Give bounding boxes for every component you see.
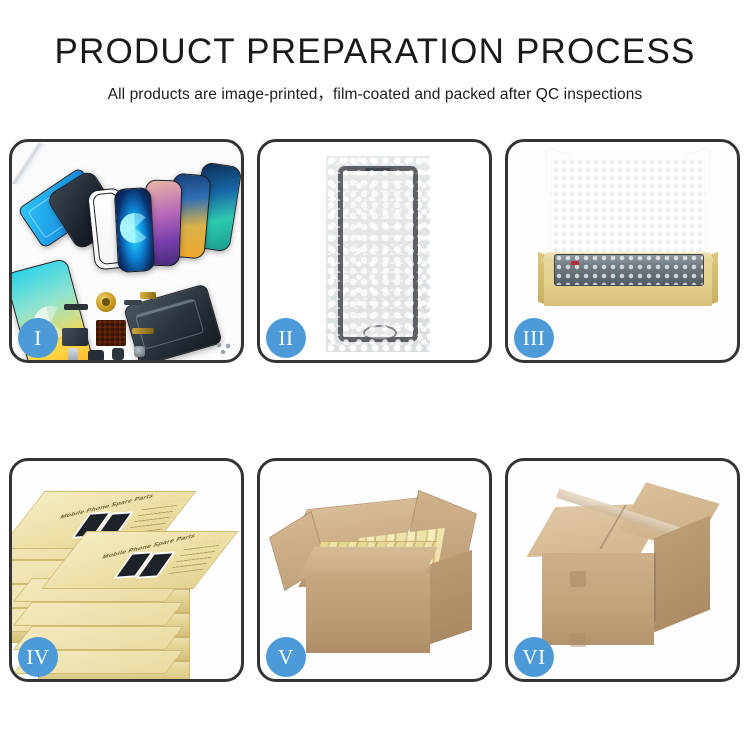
step-1-products: I bbox=[9, 139, 244, 363]
teal-wallpaper-screen bbox=[114, 187, 155, 273]
box-spec-lines bbox=[168, 540, 222, 574]
step-badge: III bbox=[514, 318, 554, 358]
red-label-mark bbox=[571, 261, 579, 265]
stacked-box bbox=[38, 661, 190, 679]
carton-front-face bbox=[306, 573, 430, 653]
step-5-carton-filled: V bbox=[257, 458, 492, 682]
speaker-module-part bbox=[88, 350, 104, 360]
box-spec-lines bbox=[126, 500, 180, 534]
ribbon-cable-part bbox=[62, 328, 88, 346]
phone-glass-screen bbox=[338, 166, 418, 342]
ic-chip-grid-part bbox=[96, 320, 126, 346]
page-title: PRODUCT PREPARATION PROCESS bbox=[0, 34, 750, 71]
flex-cable-part-3 bbox=[132, 328, 154, 334]
page-header: PRODUCT PREPARATION PROCESS All products… bbox=[0, 0, 750, 104]
carton-vertical-edge bbox=[654, 553, 656, 621]
screws-part bbox=[216, 342, 232, 354]
step-badge: V bbox=[266, 637, 306, 677]
page-subtitle: All products are image-printed，film-coat… bbox=[0, 82, 750, 104]
process-step-grid: I II III bbox=[9, 139, 741, 682]
camera-lens-part bbox=[134, 346, 145, 357]
speaker-coil-part bbox=[96, 292, 116, 312]
step-badge: II bbox=[266, 318, 306, 358]
tweezers-tool bbox=[12, 142, 49, 188]
foam-padding-sheet bbox=[552, 158, 704, 266]
step-6-carton-sealed: VI bbox=[505, 458, 740, 682]
step-badge: VI bbox=[514, 637, 554, 677]
carton-hand-hole-lower bbox=[570, 633, 586, 647]
step-badge: IV bbox=[18, 637, 58, 677]
button-module-part bbox=[112, 348, 124, 360]
sim-tray-part bbox=[68, 348, 78, 360]
battery-connector-part bbox=[64, 304, 88, 310]
bubble-wrap-film bbox=[326, 156, 430, 352]
step-2-bubble-wrap: II bbox=[257, 139, 492, 363]
carton-side-face bbox=[430, 550, 472, 644]
step-4-stacked-boxes: Mobile Phone Spare Parts Mobile Phone Sp… bbox=[9, 458, 244, 682]
step-badge: I bbox=[18, 318, 58, 358]
flex-cable-part-1 bbox=[124, 300, 142, 305]
carton-hand-hole-upper bbox=[570, 571, 586, 587]
flex-cable-part-2 bbox=[140, 292, 156, 299]
step-3-inner-box: III bbox=[505, 139, 740, 363]
wrapped-screen-in-box bbox=[554, 254, 704, 286]
sealed-carton-front-face bbox=[542, 553, 654, 645]
